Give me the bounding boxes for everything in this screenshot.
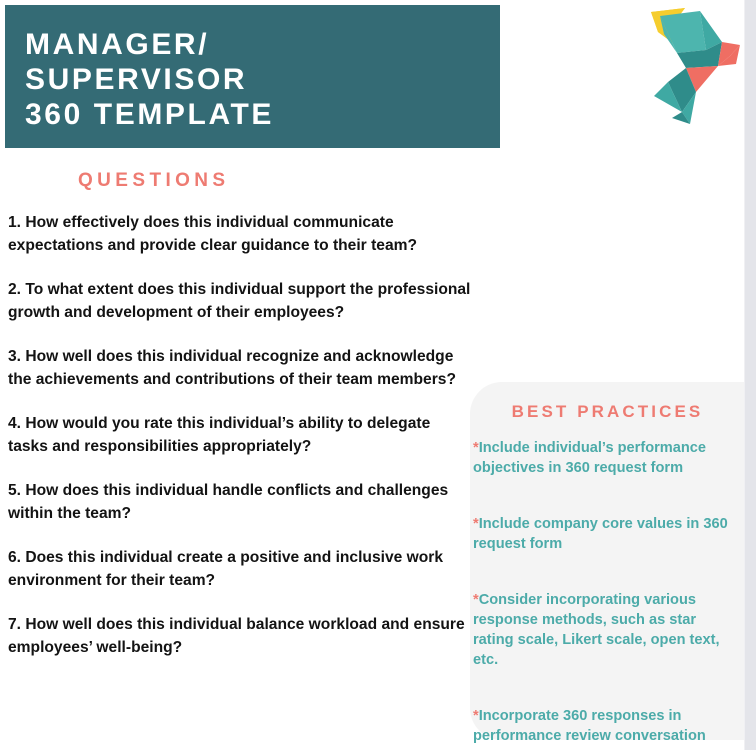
question-item: 7. How well does this individual balance… [8, 614, 474, 659]
best-practice-text: Incorporate 360 responses in performance… [473, 708, 706, 744]
best-practice-item: *Incorporate 360 responses in performanc… [473, 706, 740, 746]
header-banner: MANAGER/ SUPERVISOR 360 TEMPLATE [5, 5, 500, 148]
best-practice-text: Include individual’s performance objecti… [473, 440, 706, 476]
question-item: 4. How would you rate this individual’s … [8, 413, 474, 458]
best-practice-item: *Include company core values in 360 requ… [473, 514, 740, 554]
best-practice-item: *Consider incorporating various response… [473, 590, 740, 670]
document-page: MANAGER/ SUPERVISOR 360 TEMPLATE QUEST [0, 0, 756, 750]
best-practices-list: *Include individual’s performance object… [473, 438, 742, 746]
question-item: 5. How does this individual handle confl… [8, 480, 474, 525]
question-item: 1. How effectively does this individual … [8, 212, 474, 257]
questions-list: 1. How effectively does this individual … [8, 212, 474, 659]
question-item: 6. Does this individual create a positiv… [8, 547, 474, 592]
origami-bird-logo [644, 6, 744, 128]
page-edge-strip [745, 0, 756, 750]
best-practice-item: *Include individual’s performance object… [473, 438, 740, 478]
best-practices-heading: BEST PRACTICES [473, 402, 742, 422]
questions-heading: QUESTIONS [78, 170, 230, 192]
page-title: MANAGER/ SUPERVISOR 360 TEMPLATE [25, 27, 500, 132]
best-practice-text: Consider incorporating various response … [473, 592, 720, 668]
best-practices-card: BEST PRACTICES *Include individual’s per… [470, 382, 745, 740]
question-item: 2. To what extent does this individual s… [8, 279, 474, 324]
question-item: 3. How well does this individual recogni… [8, 346, 474, 391]
best-practice-text: Include company core values in 360 reque… [473, 516, 728, 552]
